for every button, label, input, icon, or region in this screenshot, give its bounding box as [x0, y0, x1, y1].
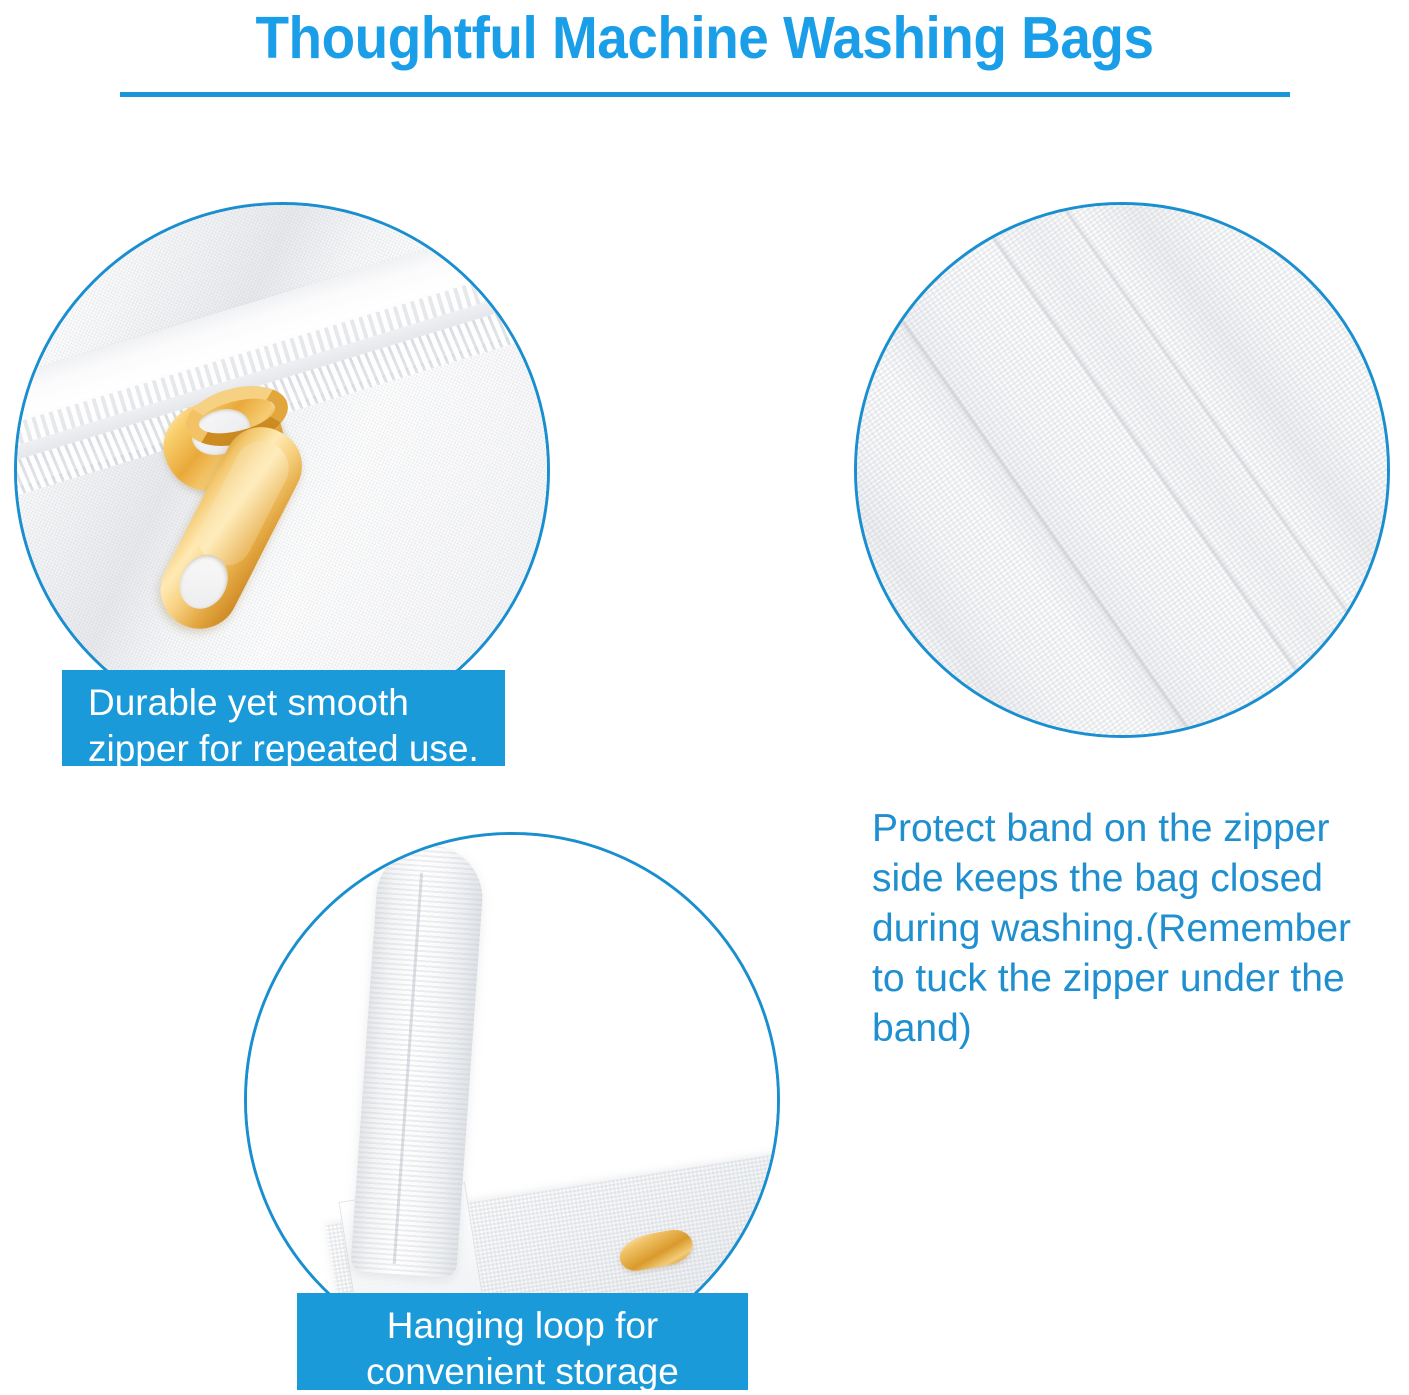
feature-image-zipper [14, 202, 550, 738]
caption-line: band) [872, 1004, 1406, 1054]
protect-band-weave-texture [854, 202, 1390, 738]
caption-line: to tuck the zipper under the [872, 954, 1406, 1004]
page-title: Thoughtful Machine Washing Bags [49, 2, 1359, 74]
title-divider-rule [120, 92, 1290, 97]
caption-line: zipper for repeated use. [88, 726, 505, 772]
caption-line: Durable yet smooth [88, 680, 505, 726]
protect-band-photo [857, 205, 1387, 735]
zipper-slider [145, 380, 465, 680]
caption-line: Protect band on the zipper [872, 804, 1406, 854]
feature-image-hanging-loop [244, 832, 780, 1368]
zipper-photo [17, 205, 547, 735]
caption-line: convenient storage [311, 1349, 734, 1395]
caption-line: side keeps the bag closed [872, 854, 1406, 904]
feature-image-protect-band [854, 202, 1390, 738]
caption-banner-hanging-loop: Hanging loop for convenient storage [297, 1293, 748, 1390]
hanging-loop-photo [247, 835, 777, 1365]
caption-text-protect-band: Protect band on the zipper side keeps th… [872, 804, 1406, 1054]
caption-banner-zipper: Durable yet smooth zipper for repeated u… [62, 670, 505, 766]
caption-line: Hanging loop for [311, 1303, 734, 1349]
caption-line: during washing.(Remember [872, 904, 1406, 954]
